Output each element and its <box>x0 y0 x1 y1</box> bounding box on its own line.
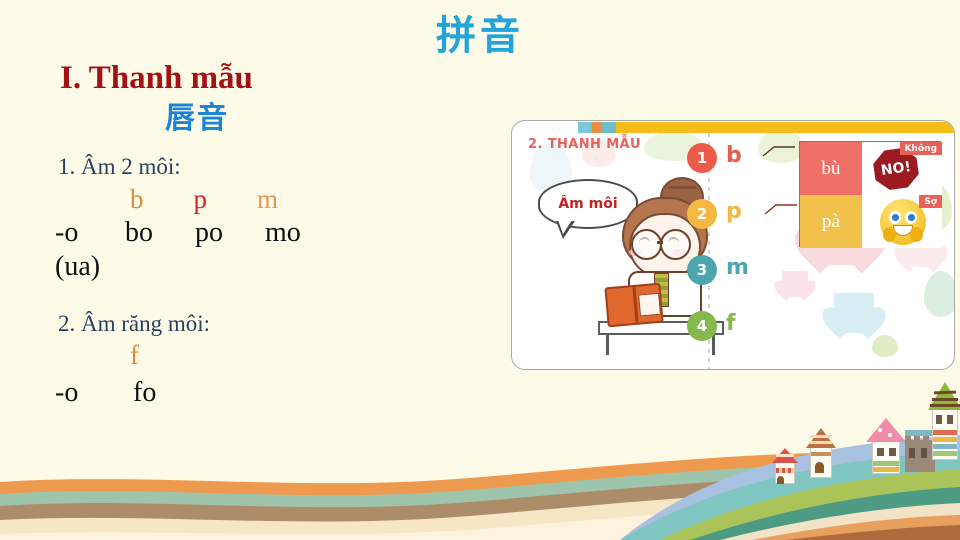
node-number: 2 <box>697 205 707 223</box>
castle-pink <box>866 418 906 474</box>
node-circle-4[interactable]: 4 <box>687 311 717 341</box>
section-1-letters: b p m <box>130 186 500 213</box>
node-circle-2[interactable]: 2 <box>687 199 717 229</box>
desk-leg-icon <box>606 335 609 355</box>
table-row: pà Sợ <box>800 195 942 248</box>
section-1-syllables: -o bo po mo <box>55 217 500 249</box>
castle-tall-green <box>928 382 960 460</box>
letter-p: p <box>194 186 208 213</box>
hair-bun-line <box>668 186 696 189</box>
heading-thanh-mau: I. Thanh mẫu <box>60 60 500 98</box>
connector-line-b-icon <box>762 145 796 157</box>
word-cell-bu: bù <box>800 142 862 195</box>
card-top-bar <box>616 122 954 133</box>
node-number: 1 <box>697 149 707 167</box>
heart-decor-icon <box>834 293 874 333</box>
letter-b: b <box>130 186 144 213</box>
glasses-lens-icon <box>660 229 691 260</box>
castle-small-left <box>772 448 798 484</box>
letter-m: m <box>257 186 278 213</box>
emoji-eye-icon <box>889 211 901 224</box>
section-1-label: 1. Âm 2 môi: <box>58 154 500 180</box>
node-letter-m: m <box>726 255 749 280</box>
node-number: 3 <box>697 261 707 279</box>
section-2-label: 2. Âm răng môi: <box>58 311 500 337</box>
syllable-bo: bo <box>125 217 169 249</box>
heading-chinese: 唇音 <box>165 102 500 137</box>
node-circle-3[interactable]: 3 <box>687 255 717 285</box>
heart-decor-icon <box>782 271 808 297</box>
connector-line-p-icon <box>764 203 798 215</box>
book-spine <box>632 287 638 323</box>
emoji-hand-icon <box>883 227 896 242</box>
page-title: 拼音 <box>0 16 960 56</box>
card-caption: 2. THANH MẪU <box>528 137 641 152</box>
word-tag-so: Sợ <box>919 195 942 208</box>
syllable-dash-o: -o <box>55 217 99 249</box>
speech-bubble-tail-icon <box>556 221 575 239</box>
syllable-po: po <box>195 217 239 249</box>
left-content-column: I. Thanh mẫu 唇音 1. Âm 2 môi: b p m -o bo… <box>0 60 500 409</box>
blob-decor-icon <box>872 335 898 357</box>
node-number: 4 <box>697 317 707 335</box>
table-row: bù NO! Không <box>800 142 942 195</box>
open-book-icon <box>604 283 663 328</box>
lesson-image-card: 2. THANH MẪU Âm môi <box>511 120 955 370</box>
section-1-note: (ua) <box>55 251 500 283</box>
card-top-chip <box>578 122 616 133</box>
glasses-bridge-icon <box>657 241 663 244</box>
node-letter-f: f <box>726 311 736 336</box>
emoji-hand-icon <box>910 227 923 242</box>
desk-leg-icon <box>712 335 715 355</box>
syllable-dash-o-2: -o <box>55 377 99 409</box>
node-letter-p: p <box>726 199 742 224</box>
castle-small-right <box>806 428 836 478</box>
word-cell-pa: pà <box>800 195 862 248</box>
book-page <box>638 293 661 317</box>
word-table: bù NO! Không pà Sợ <box>799 141 941 247</box>
glasses-lens-icon <box>631 229 662 260</box>
syllable-fo: fo <box>133 377 177 409</box>
stop-sign-text: NO! <box>880 159 912 179</box>
slide-root: 拼音 I. Thanh mẫu 唇音 1. Âm 2 môi: b p m -o… <box>0 0 960 540</box>
syllable-mo: mo <box>265 217 309 249</box>
leaf-decor-icon <box>924 271 954 317</box>
node-letter-b: b <box>726 143 742 168</box>
word-tag-khong: Không <box>900 142 942 155</box>
section-2-syllables: -o fo <box>55 377 500 409</box>
letter-f: f <box>130 341 500 371</box>
word-image-cell: Sợ <box>862 195 942 248</box>
node-circle-1[interactable]: 1 <box>687 143 717 173</box>
emoji-eye-icon <box>905 211 917 224</box>
word-image-cell: NO! Không <box>862 142 942 195</box>
